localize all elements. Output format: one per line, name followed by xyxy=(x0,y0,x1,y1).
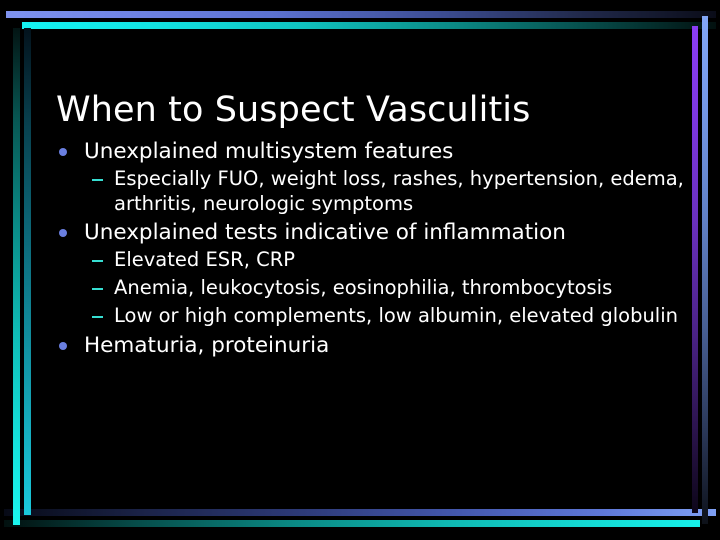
frame-bar-right-purple xyxy=(692,26,698,513)
bullet-dash-glyph xyxy=(92,288,103,290)
slide-canvas: When to Suspect Vasculitis Unexplained m… xyxy=(0,0,720,540)
bullet-dash-icon xyxy=(92,167,114,193)
bullet-dot-icon xyxy=(54,138,84,166)
frame-bar-top-cyan xyxy=(22,22,716,29)
list-item: Anemia, leukocytosis, eosinophilia, thro… xyxy=(54,276,684,302)
list-item: Unexplained tests indicative of inflamma… xyxy=(54,219,684,247)
list-item-label: Especially FUO, weight loss, rashes, hyp… xyxy=(114,167,684,217)
list-item: Unexplained multisystem features xyxy=(54,138,684,166)
list-item: Elevated ESR, CRP xyxy=(54,248,684,274)
list-item-label: Unexplained multisystem features xyxy=(84,138,684,166)
frame-bar-bottom-blue xyxy=(4,509,716,516)
slide-body-list: Unexplained multisystem featuresEspecial… xyxy=(54,138,684,361)
frame-bar-left-teal xyxy=(24,28,31,515)
bullet-dash-glyph xyxy=(92,179,103,181)
list-item-label: Anemia, leukocytosis, eosinophilia, thro… xyxy=(114,276,684,301)
bullet-dash-icon xyxy=(92,276,114,302)
list-item-label: Low or high complements, low albumin, el… xyxy=(114,304,684,329)
bullet-dot-icon xyxy=(54,332,84,360)
slide-title: When to Suspect Vasculitis xyxy=(56,91,656,130)
list-item: Hematuria, proteinuria xyxy=(54,332,684,360)
list-item: Low or high complements, low albumin, el… xyxy=(54,304,684,330)
bullet-dot-glyph xyxy=(59,342,67,350)
bullet-dot-glyph xyxy=(59,148,67,156)
frame-bar-top-blue xyxy=(6,11,716,18)
frame-bar-right-blue xyxy=(702,16,708,524)
frame-bar-left-cyan xyxy=(13,28,20,525)
list-item-label: Unexplained tests indicative of inflamma… xyxy=(84,219,684,247)
bullet-dash-glyph xyxy=(92,316,103,318)
list-item-label: Elevated ESR, CRP xyxy=(114,248,684,273)
frame-bar-bottom-cyan xyxy=(4,520,700,527)
bullet-dash-glyph xyxy=(92,260,103,262)
list-item-label: Hematuria, proteinuria xyxy=(84,332,684,360)
bullet-dash-icon xyxy=(92,304,114,330)
bullet-dash-icon xyxy=(92,248,114,274)
list-item: Especially FUO, weight loss, rashes, hyp… xyxy=(54,167,684,217)
bullet-dot-glyph xyxy=(59,229,67,237)
bullet-dot-icon xyxy=(54,219,84,247)
